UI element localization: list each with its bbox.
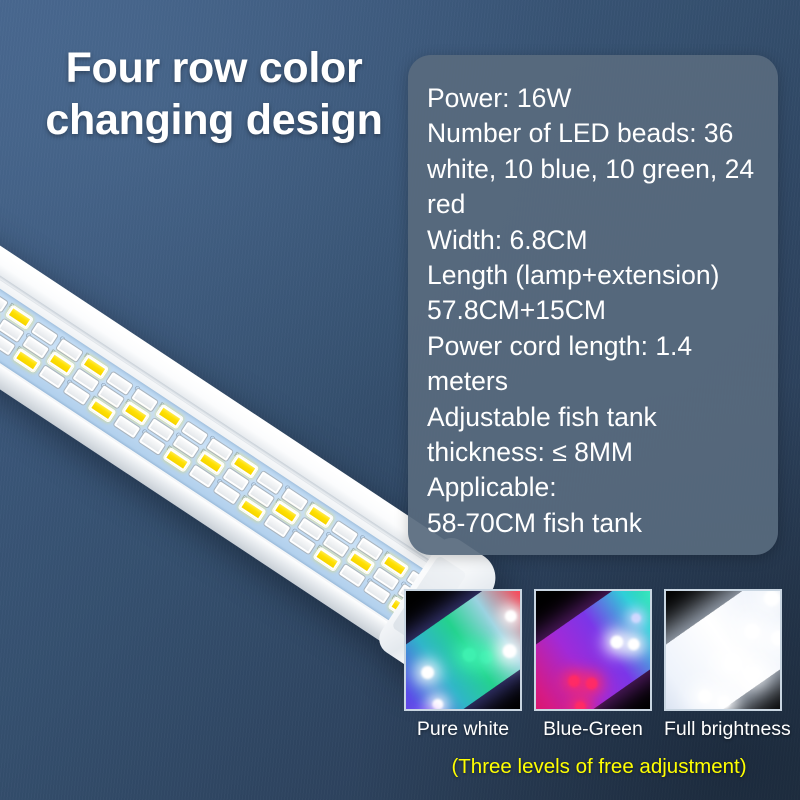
thumbnail-led-dot — [503, 607, 520, 624]
specification-line: Power: 16W — [427, 81, 770, 116]
thumbnail-led-dot — [629, 611, 643, 625]
thumbnail-led-dot — [500, 642, 519, 661]
specification-line: Applicable: — [427, 470, 770, 505]
thumbnail-caption: Pure white — [404, 718, 522, 741]
thumbnail-led-dot — [584, 675, 601, 692]
thumbnail-led-dot — [744, 664, 763, 683]
specification-line: Adjustable fish tank thickness: ≤ 8MM — [427, 400, 770, 471]
adjustment-note: (Three levels of free adjustment) — [404, 755, 794, 779]
specification-list: Power: 16WNumber of LED beads: 36 white,… — [427, 81, 770, 541]
page-title-line-2: changing design — [28, 94, 400, 146]
thumbnail-led-dot — [721, 654, 742, 675]
thumbnail-led-dot — [460, 645, 479, 664]
mode-caption-row: Pure white Blue-Green Full brightness — [404, 718, 788, 741]
thumbnail-led-dot — [419, 664, 437, 682]
thumbnail-led-dot — [478, 648, 496, 666]
specification-line: Width: 6.8CM — [427, 223, 770, 258]
page-title: Four row color changing design — [28, 42, 400, 146]
thumbnail-pure-white[interactable] — [404, 589, 522, 711]
thumbnail-led-dot — [761, 589, 782, 610]
product-marketing-image: Four row color changing design Power: 16… — [0, 0, 800, 800]
specification-line: Power cord length: 1.4 meters — [427, 329, 770, 400]
thumbnail-led-dot — [696, 687, 715, 706]
mode-thumbnail-row — [404, 589, 788, 713]
thumbnail-led-dot — [767, 628, 782, 649]
thumbnail-blue-green[interactable] — [534, 589, 652, 711]
page-title-line-1: Four row color — [28, 42, 400, 94]
thumbnail-led-strip — [404, 589, 522, 711]
thumbnail-led-dot — [648, 589, 652, 602]
specification-line: Number of LED beads: 36 white, 10 blue, … — [427, 116, 770, 222]
thumbnail-caption: Full brightness — [664, 718, 782, 741]
thumbnail-led-dot — [573, 699, 588, 711]
thumbnail-full-brightness[interactable] — [664, 589, 782, 711]
specification-line: 58-70CM fish tank — [427, 506, 770, 541]
thumbnail-led-dot — [608, 633, 626, 651]
specification-line: Length (lamp+extension) 57.8CM+15CM — [427, 258, 770, 329]
thumbnail-led-dot — [626, 636, 643, 653]
thumbnail-led-dot — [430, 697, 445, 711]
thumbnail-led-dot — [566, 673, 583, 690]
thumbnail-led-dot — [741, 620, 763, 642]
thumbnail-led-dot — [715, 693, 733, 711]
specification-panel: Power: 16WNumber of LED beads: 36 white,… — [408, 55, 778, 555]
thumbnail-led-strip — [664, 589, 782, 711]
thumbnail-caption: Blue-Green — [534, 718, 652, 741]
thumbnail-led-dot — [516, 589, 522, 598]
thumbnail-led-strip — [534, 589, 652, 711]
